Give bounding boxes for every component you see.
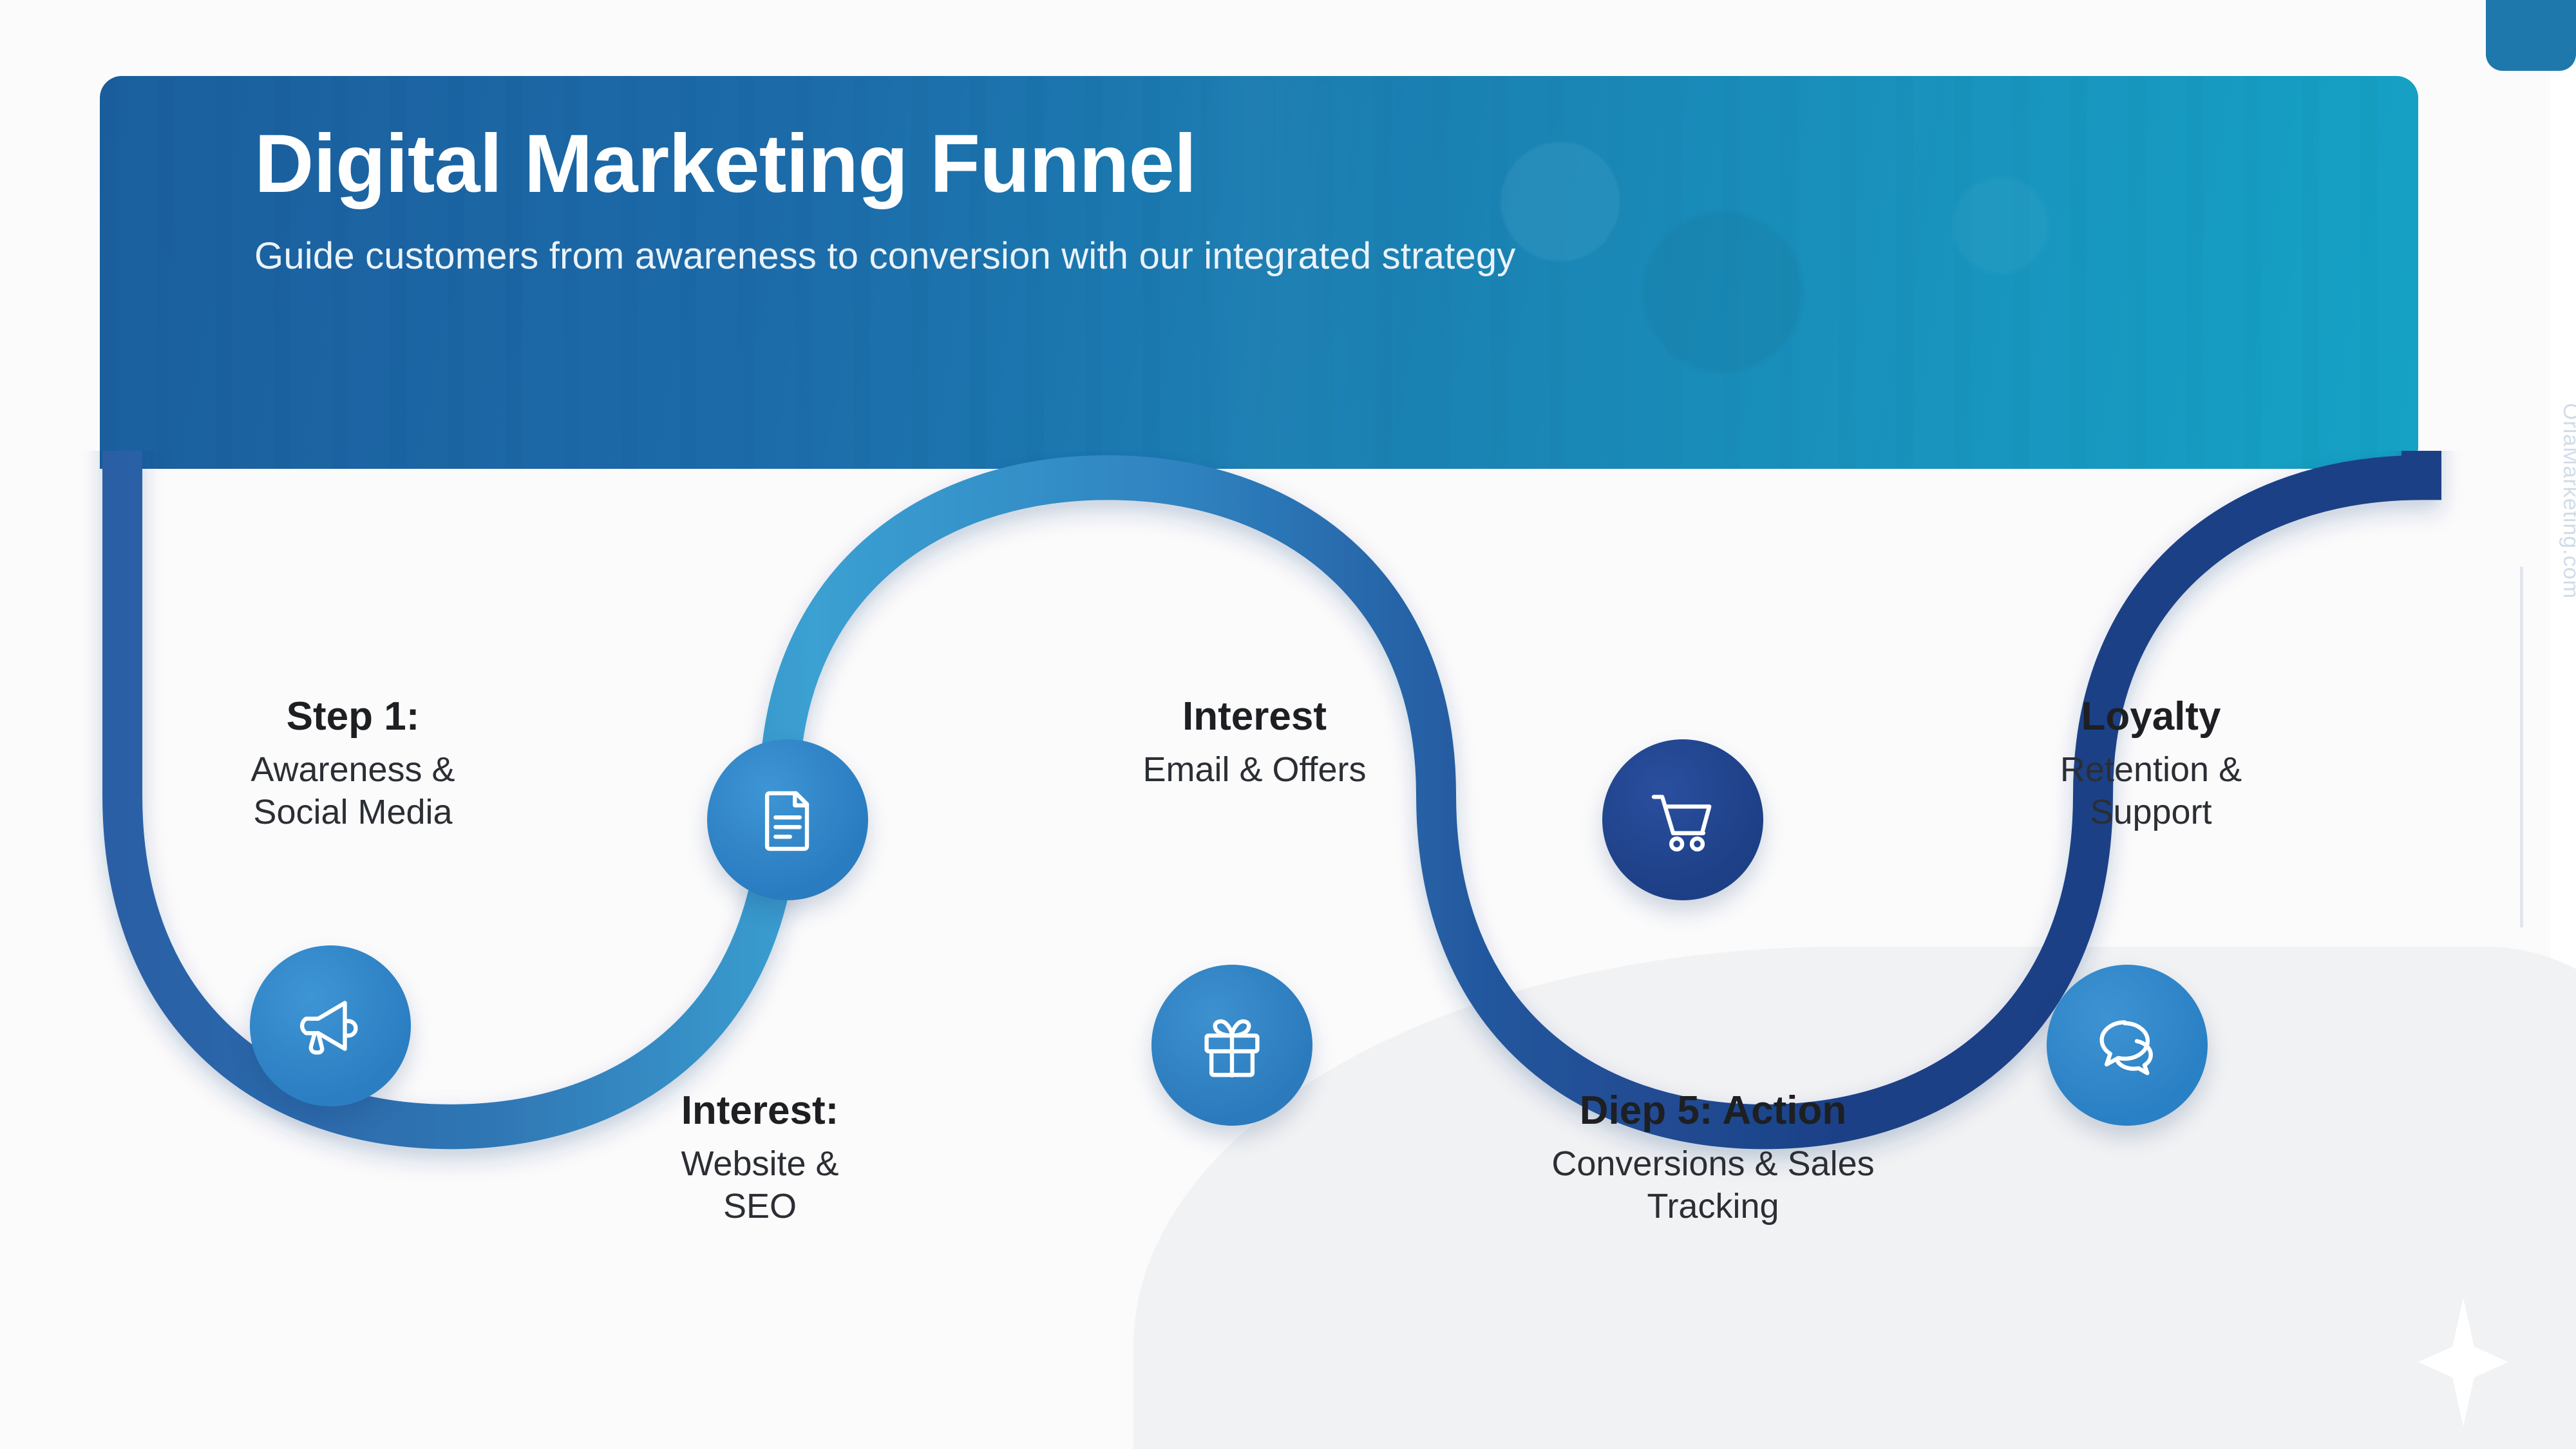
step-node-email-offers[interactable]	[1151, 965, 1312, 1126]
step-label-desc-line: Social Media	[153, 791, 553, 834]
step-label-desc-line: Support	[1951, 791, 2351, 834]
step-label-desc-line: Website &	[560, 1143, 960, 1186]
megaphone-icon	[292, 987, 369, 1065]
page-title: Digital Marketing Funnel	[254, 121, 2418, 207]
shopping-cart-icon	[1644, 781, 1721, 858]
step-label-desc-line: Awareness &	[153, 749, 553, 791]
step-label-lead: Loyalty	[1951, 694, 2351, 739]
step-label-loyalty: Loyalty Retention & Support	[1951, 694, 2351, 834]
funnel-path-graphic	[0, 451, 2576, 1352]
step-label-website: Interest: Website & SEO	[560, 1088, 960, 1228]
step-label-desc-line: Retention &	[1951, 749, 2351, 791]
step-label-desc: Conversions & Sales Tracking	[1513, 1143, 1913, 1228]
step-label-lead: Interest	[1055, 694, 1454, 739]
step-label-desc-line: Tracking	[1513, 1186, 1913, 1228]
header-banner: Digital Marketing Funnel Guide customers…	[100, 76, 2418, 469]
step-label-email-offers: Interest Email & Offers	[1055, 694, 1454, 791]
step-label-desc: Website & SEO	[560, 1143, 960, 1228]
step-label-awareness: Step 1: Awareness & Social Media	[153, 694, 553, 834]
page-subtitle: Guide customers from awareness to conver…	[254, 234, 2418, 278]
step-node-awareness[interactable]	[250, 945, 411, 1106]
step-node-loyalty[interactable]	[2047, 965, 2208, 1126]
step-label-desc-line: Conversions & Sales	[1513, 1143, 1913, 1186]
gift-icon	[1193, 1007, 1271, 1084]
step-label-action: Diep 5: Action Conversions & Sales Track…	[1513, 1088, 1913, 1228]
step-label-desc-line: Email & Offers	[1055, 749, 1454, 791]
step-node-website[interactable]	[707, 739, 868, 900]
step-label-desc-line: SEO	[560, 1186, 960, 1228]
document-icon	[749, 781, 826, 858]
step-node-action[interactable]	[1602, 739, 1763, 900]
chat-bubbles-icon	[2088, 1007, 2166, 1084]
step-label-lead: Diep 5: Action	[1513, 1088, 1913, 1133]
step-label-desc: Retention & Support	[1951, 749, 2351, 834]
step-label-lead: Interest:	[560, 1088, 960, 1133]
step-label-lead: Step 1:	[153, 694, 553, 739]
step-label-desc: Awareness & Social Media	[153, 749, 553, 834]
corner-tab-decoration	[2486, 0, 2576, 71]
step-label-desc: Email & Offers	[1055, 749, 1454, 791]
slide-canvas: OrlaMarketing.com Digital Marketing Funn…	[0, 0, 2576, 1449]
